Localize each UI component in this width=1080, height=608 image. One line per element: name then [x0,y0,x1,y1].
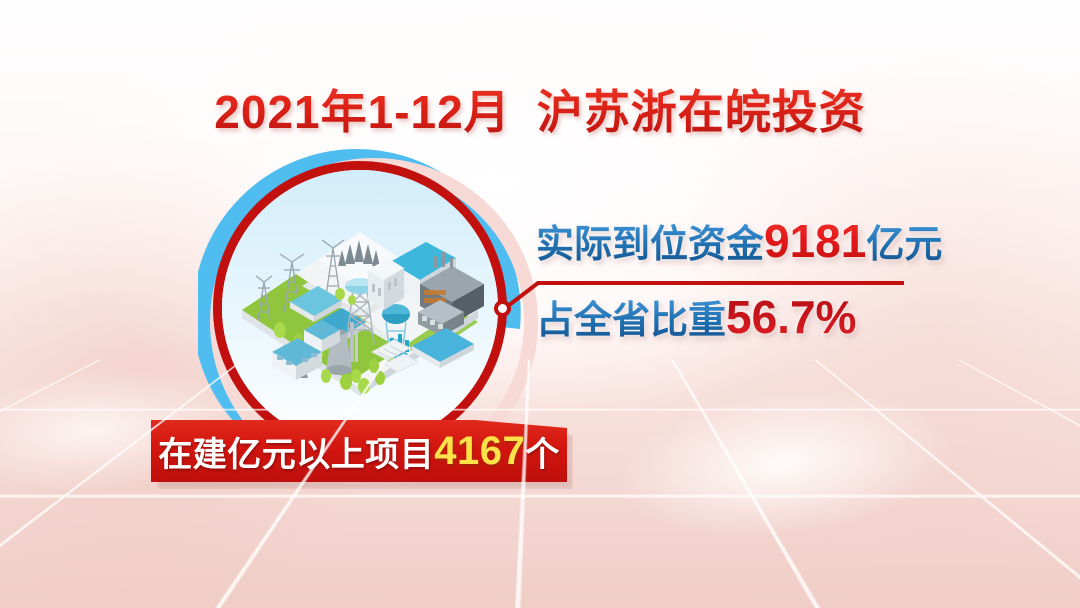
stat-province-share-value: 56.7% [726,291,856,343]
stat-actual-funds-label: 实际到位资金 [536,224,764,266]
stat-actual-funds: 实际到位资金9181亿元 [536,218,942,264]
stat-province-share-label: 占全省比重 [536,300,726,342]
banner-label-suffix: 个 [525,427,560,476]
banner-label-prefix: 在建亿元以上项目 [158,427,434,476]
page-title: 2021年1-12月沪苏浙在皖投资 [0,76,1080,142]
industrial-park-icon [222,170,498,446]
projects-banner: 在建亿元以上项目4167个 [151,420,567,482]
stat-province-share: 占全省比重56.7% [536,294,856,340]
stat-actual-funds-unit: 亿元 [866,224,942,266]
title-period: 2021年1-12月 [214,86,510,138]
infographic-slide: 2021年1-12月沪苏浙在皖投资 [0,0,1080,608]
illustration-disc [222,170,498,446]
title-subject: 沪苏浙在皖投资 [537,86,866,138]
connector-dot-icon [494,300,511,317]
stat-actual-funds-value: 9181 [764,215,866,267]
banner-text: 在建亿元以上项目4167个 [151,420,567,482]
banner-value: 4167 [434,429,525,474]
